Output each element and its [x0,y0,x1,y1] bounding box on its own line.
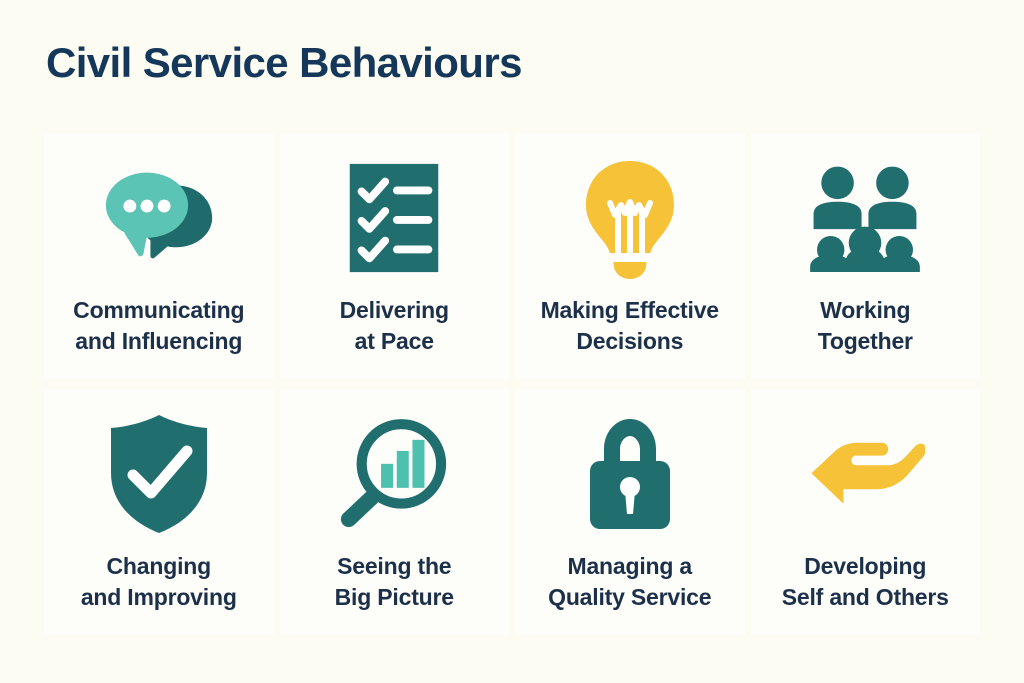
card-managing-a-quality-service[interactable]: Managing a Quality Service [515,389,745,635]
card-label: Changing and Improving [77,551,241,612]
card-seeing-the-big-picture[interactable]: Seeing the Big Picture [280,389,510,635]
page-title: Civil Service Behaviours [46,40,522,86]
card-making-effective-decisions[interactable]: Making Effective Decisions [515,133,745,379]
card-label: Delivering at Pace [336,295,453,356]
card-label: Making Effective Decisions [537,295,723,356]
card-label: Communicating and Influencing [69,295,248,356]
card-delivering-at-pace[interactable]: Delivering at Pace [280,133,510,379]
card-label: Developing Self and Others [778,551,953,612]
card-label: Seeing the Big Picture [331,551,458,612]
lightbulb-icon [570,155,690,281]
behaviours-grid: Communicating and Influencing [44,133,980,635]
card-label: Managing a Quality Service [544,551,715,612]
speech-bubbles-icon [99,155,219,281]
magnifier-bar-chart-icon [334,411,454,537]
card-label: Working Together [814,295,917,356]
card-changing-and-improving[interactable]: Changing and Improving [44,389,274,635]
behaviours-poster: Civil Service Behaviours Communicating a… [0,0,1024,683]
shield-check-icon [99,411,219,537]
padlock-icon [570,411,690,537]
card-working-together[interactable]: Working Together [751,133,981,379]
card-communicating-and-influencing[interactable]: Communicating and Influencing [44,133,274,379]
card-developing-self-and-others[interactable]: Developing Self and Others [751,389,981,635]
open-hand-icon [805,411,925,537]
people-group-icon [805,155,925,281]
checklist-icon [334,155,454,281]
